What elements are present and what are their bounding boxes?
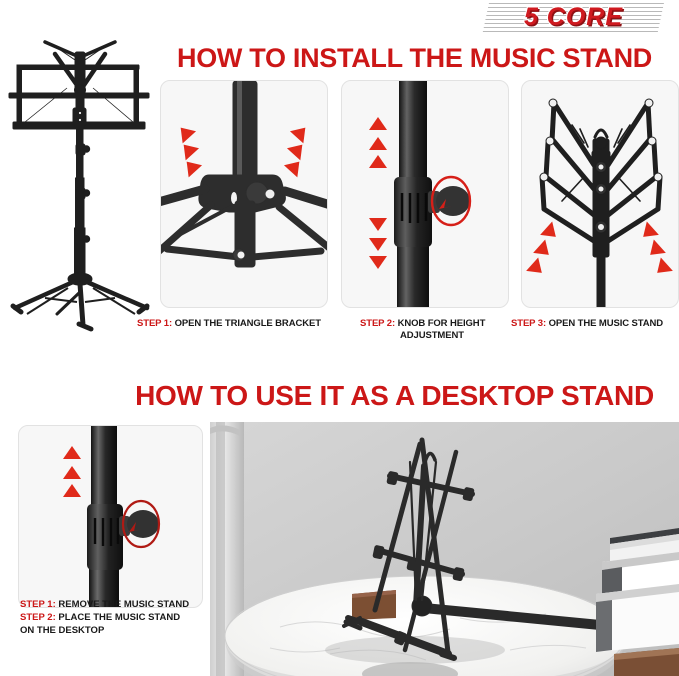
desktop-step-2-line2: ON THE DESKTOP	[20, 624, 235, 637]
desktop-step-2: STEP 2: PLACE THE MUSIC STAND	[20, 611, 235, 624]
step-2-text-line2: ADJUSTMENT	[360, 330, 515, 342]
arrow-down-1	[369, 218, 387, 231]
desktop-step-1-text: REMOVE THE MUSIC STAND	[58, 599, 189, 610]
knob-release-diagram	[19, 426, 203, 608]
step1-diagram-panel	[160, 80, 328, 308]
arrow-up-a	[63, 446, 81, 459]
step-1-number: STEP 1:	[137, 318, 172, 329]
desktop-step-captions: STEP 1: REMOVE THE MUSIC STAND STEP 2: P…	[20, 598, 235, 637]
arrow-up-1	[369, 117, 387, 130]
step2-diagram-panel	[341, 80, 509, 308]
step-caption-1: STEP 1: OPEN THE TRIANGLE BRACKET	[137, 318, 362, 330]
music-stand-hero-image	[5, 30, 155, 335]
desktop-step-2-text: PLACE THE MUSIC STAND	[58, 612, 180, 623]
folded-desk-diagram	[522, 81, 679, 308]
music-stand-illustration	[5, 30, 155, 335]
step3-diagram-panel	[521, 80, 679, 308]
desktop-step-1-number: STEP 1:	[20, 599, 56, 610]
logo-text: 5 CORE	[486, 2, 661, 32]
step-caption-2: STEP 2: KNOB FOR HEIGHT ADJUSTMENT	[360, 318, 515, 342]
arrow-down-2	[369, 238, 387, 251]
step-2-text: KNOB FOR HEIGHT	[398, 318, 486, 329]
step-caption-3: STEP 3: OPEN THE MUSIC STAND	[511, 318, 679, 330]
arrow-up-b	[63, 466, 81, 479]
step-1-text: OPEN THE TRIANGLE BRACKET	[175, 318, 321, 329]
arrow-up-c	[63, 484, 81, 497]
step-3-number: STEP 3:	[511, 318, 546, 329]
arrow-down-3	[369, 256, 387, 269]
tripod-bracket-diagram	[161, 81, 328, 308]
page-title-desktop: HOW TO USE IT AS A DESKTOP STAND	[0, 380, 679, 412]
arrow-up-2	[369, 137, 387, 150]
desktop-stand-scene	[210, 422, 679, 676]
desktop-step-2-text-line2: ON THE DESKTOP	[20, 625, 104, 636]
step-3-text: OPEN THE MUSIC STAND	[549, 318, 663, 329]
desktop-step-diagram-panel	[18, 425, 203, 608]
desktop-stand-photo	[210, 422, 679, 676]
desktop-step-1: STEP 1: REMOVE THE MUSIC STAND	[20, 598, 235, 611]
step-2-number: STEP 2:	[360, 318, 395, 329]
brand-logo: 5 CORE	[486, 2, 661, 32]
arrow-up-3	[369, 155, 387, 168]
height-knob-diagram	[342, 81, 509, 308]
desktop-step-2-number: STEP 2:	[20, 612, 56, 623]
page-title-install: HOW TO INSTALL THE MUSIC STAND	[0, 43, 679, 74]
